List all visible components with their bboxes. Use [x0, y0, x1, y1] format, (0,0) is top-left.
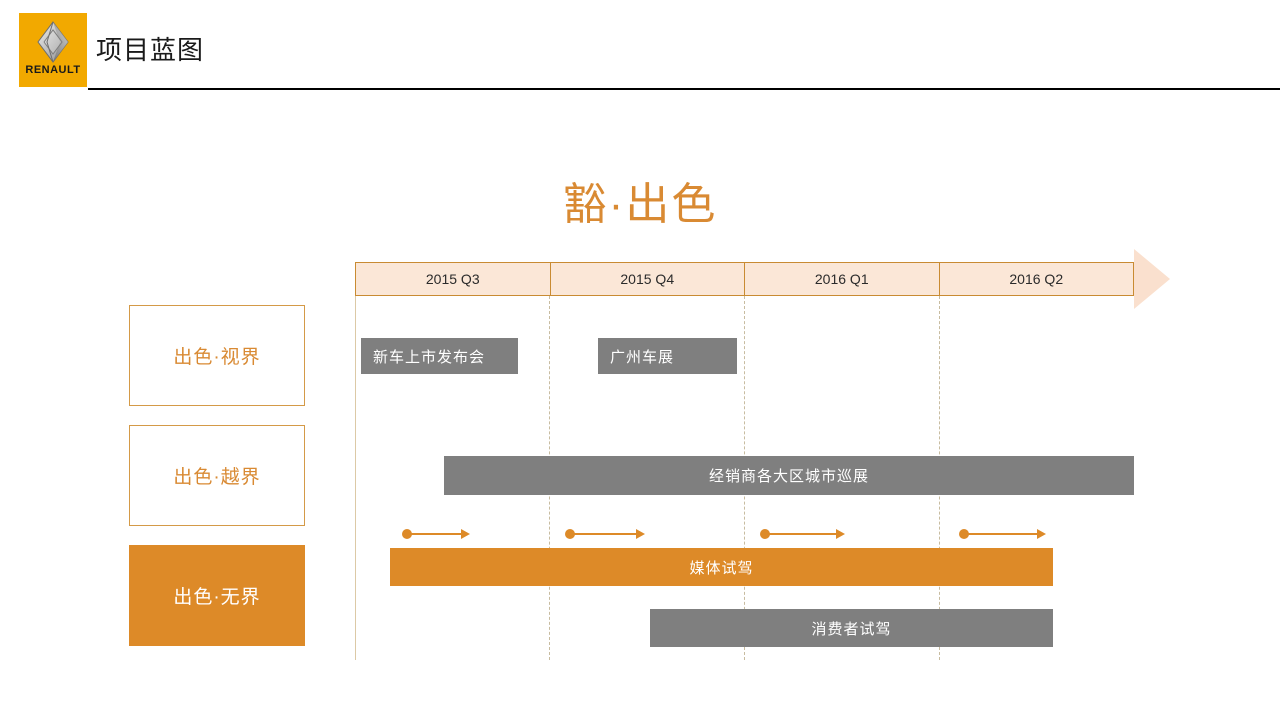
task-bar-media-test-drive[interactable]: 媒体试驾 — [390, 548, 1053, 586]
quarter-header-row: 2015 Q3 2015 Q4 2016 Q1 2016 Q2 — [355, 262, 1134, 296]
header-divider — [88, 88, 1280, 90]
task-bar-label: 媒体试驾 — [689, 557, 753, 578]
arrow-head-icon — [461, 529, 470, 539]
quarter-cell-2016-q1[interactable]: 2016 Q1 — [745, 263, 940, 295]
quarter-cell-2015-q4[interactable]: 2015 Q4 — [551, 263, 746, 295]
arrow-shaft — [767, 533, 838, 535]
slide-title: 豁·出色 — [0, 168, 1280, 232]
task-bar-label: 消费者试驾 — [811, 618, 891, 639]
quarter-cell-2015-q3[interactable]: 2015 Q3 — [356, 263, 551, 295]
arrow-shaft — [572, 533, 638, 535]
renault-logo: RENAULT — [19, 13, 87, 87]
page-title: 项目蓝图 — [96, 30, 204, 67]
category-box-wujie[interactable]: 出色·无界 — [129, 545, 305, 646]
quarter-label: 2016 Q1 — [815, 271, 869, 287]
task-bar-dealer-city-roadshow[interactable]: 经销商各大区城市巡展 — [444, 456, 1134, 495]
quarter-label: 2016 Q2 — [1009, 271, 1063, 287]
task-bar-label: 经销商各大区城市巡展 — [709, 465, 869, 486]
renault-diamond-icon — [31, 20, 75, 64]
task-bar-label: 广州车展 — [610, 346, 674, 367]
quarter-arrow-2016-q1-icon — [760, 526, 845, 542]
renault-wordmark: RENAULT — [25, 65, 80, 76]
category-box-yuejie[interactable]: 出色·越界 — [129, 425, 305, 526]
arrow-shaft — [409, 533, 463, 535]
quarter-cell-2016-q2[interactable]: 2016 Q2 — [940, 263, 1134, 295]
quarter-arrow-2015-q3-icon — [402, 526, 470, 542]
timeline-header-strip: 2015 Q3 2015 Q4 2016 Q1 2016 Q2 — [355, 262, 1134, 296]
category-label: 出色·越界 — [173, 462, 260, 489]
quarter-arrow-2015-q4-icon — [565, 526, 645, 542]
task-bar-guangzhou-auto-show[interactable]: 广州车展 — [598, 338, 737, 374]
arrow-head-icon — [836, 529, 845, 539]
slide-header: RENAULT 项目蓝图 — [0, 0, 1280, 92]
quarter-label: 2015 Q4 — [620, 271, 674, 287]
arrow-head-icon — [1037, 529, 1046, 539]
category-box-shijie[interactable]: 出色·视界 — [129, 305, 305, 406]
quarter-arrow-2016-q2-icon — [959, 526, 1046, 542]
category-label: 出色·视界 — [173, 342, 260, 369]
timeline-arrowhead-icon — [1134, 249, 1170, 309]
arrow-head-icon — [636, 529, 645, 539]
task-bar-label: 新车上市发布会 — [373, 346, 485, 367]
task-bar-launch-event[interactable]: 新车上市发布会 — [361, 338, 518, 374]
category-label: 出色·无界 — [173, 582, 260, 609]
task-bar-consumer-test-drive[interactable]: 消费者试驾 — [650, 609, 1053, 647]
quarter-label: 2015 Q3 — [426, 271, 480, 287]
arrow-shaft — [966, 533, 1039, 535]
timeline-axis-line — [355, 296, 356, 660]
